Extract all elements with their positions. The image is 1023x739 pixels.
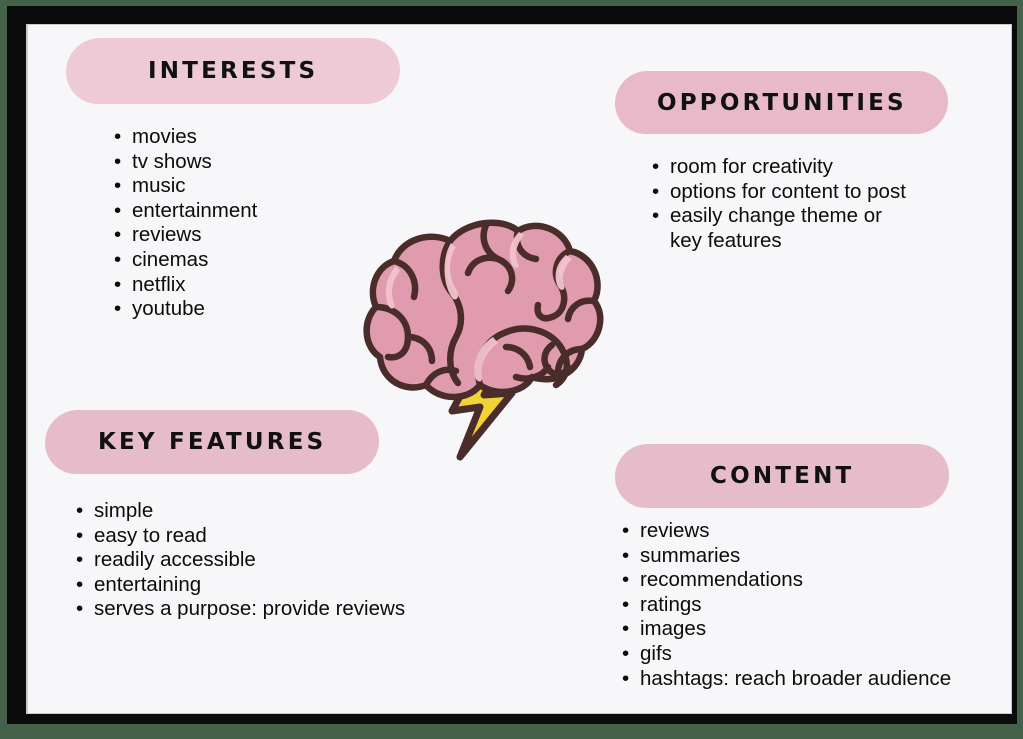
bullet-list-opportunities: room for creativity options for content … xyxy=(650,155,910,253)
heading-pill-content: CONTENT xyxy=(614,444,950,508)
heading-pill-opportunities: OPPORTUNITIES xyxy=(614,71,949,134)
list-item: entertainment xyxy=(112,199,362,224)
slide-canvas: INTERESTS movies tv shows music entertai… xyxy=(0,0,1023,739)
list-item: options for content to post xyxy=(650,180,910,205)
brainstorm-brain-icon xyxy=(356,195,636,495)
list-item: hashtags: reach broader audience xyxy=(620,667,1011,692)
heading-text-key-features: KEY FEATURES xyxy=(98,429,326,455)
list-item: images xyxy=(620,617,1011,642)
list-item: tv shows xyxy=(112,150,362,175)
bullet-list-content: reviews summaries recommendations rating… xyxy=(620,519,1011,691)
heading-text-interests: INTERESTS xyxy=(148,58,318,84)
list-item: easy to read xyxy=(74,524,494,549)
list-item: reviews xyxy=(112,223,362,248)
list-item: cinemas xyxy=(112,248,362,273)
list-item: recommendations xyxy=(620,568,1011,593)
bullet-list-interests: movies tv shows music entertainment revi… xyxy=(112,125,362,322)
list-item: netflix xyxy=(112,273,362,298)
list-item: serves a purpose: provide reviews xyxy=(74,597,494,622)
heading-text-content: CONTENT xyxy=(710,463,854,489)
heading-pill-interests: INTERESTS xyxy=(65,38,401,104)
list-item: movies xyxy=(112,125,362,150)
list-item: youtube xyxy=(112,297,362,322)
heading-pill-key-features: KEY FEATURES xyxy=(44,410,380,474)
list-item: music xyxy=(112,174,362,199)
heading-text-opportunities: OPPORTUNITIES xyxy=(657,90,907,116)
list-item: summaries xyxy=(620,544,1011,569)
list-item: ratings xyxy=(620,593,1011,618)
list-item: reviews xyxy=(620,519,1011,544)
slide-surface: INTERESTS movies tv shows music entertai… xyxy=(28,25,1011,713)
list-item: gifs xyxy=(620,642,1011,667)
list-item: room for creativity xyxy=(650,155,910,180)
list-item: easily change theme or key features xyxy=(650,204,910,253)
bullet-list-key-features: simple easy to read readily accessible e… xyxy=(74,499,494,622)
list-item: readily accessible xyxy=(74,548,494,573)
list-item: entertaining xyxy=(74,573,494,598)
list-item: simple xyxy=(74,499,494,524)
